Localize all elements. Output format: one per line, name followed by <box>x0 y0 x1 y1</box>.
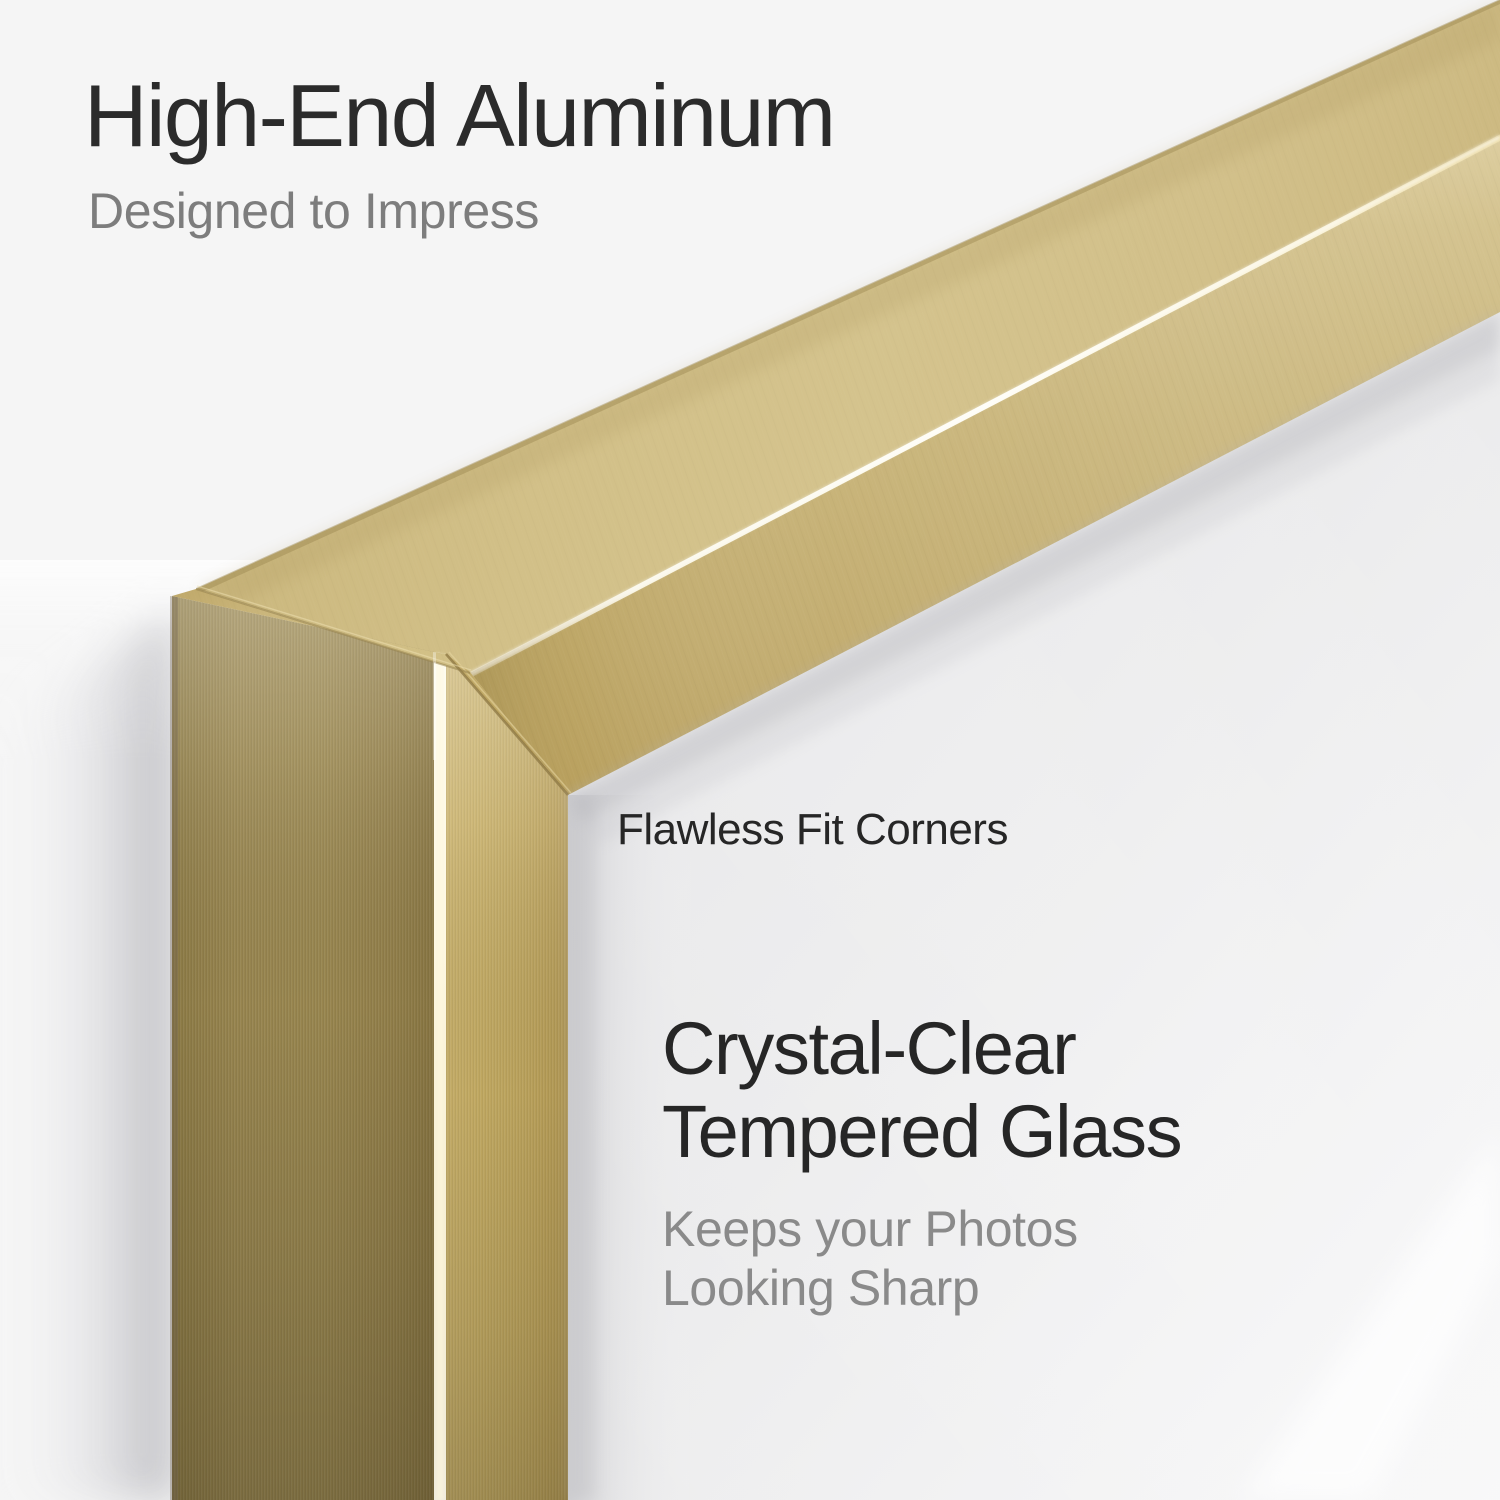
product-marketing-image: High-End Aluminum Designed to Impress Fl… <box>0 0 1500 1500</box>
glass-feature-title: Crystal-Clear Tempered Glass <box>662 1008 1462 1174</box>
glass-title-line-2: Tempered Glass <box>662 1091 1462 1174</box>
glass-feature-block: Crystal-Clear Tempered Glass Keeps your … <box>662 1008 1462 1318</box>
frame-left-stile-front-face <box>446 654 568 1500</box>
glass-sub-line-2: Looking Sharp <box>662 1259 1462 1318</box>
stile-specular-highlight <box>434 652 446 1500</box>
glass-feature-subtitle: Keeps your Photos Looking Sharp <box>662 1200 1462 1318</box>
stile-contact-shadow <box>568 795 596 1500</box>
glass-sub-line-1: Keeps your Photos <box>662 1200 1462 1259</box>
glass-title-line-1: Crystal-Clear <box>662 1008 1462 1091</box>
callout-flawless-fit-corners: Flawless Fit Corners <box>617 806 1008 854</box>
frame-left-stile-side-face <box>172 596 434 1500</box>
page-title: High-End Aluminum <box>84 70 1184 162</box>
headline-block: High-End Aluminum Designed to Impress <box>84 70 1184 239</box>
stile-outer-edge <box>170 596 178 1500</box>
page-subtitle: Designed to Impress <box>88 184 1184 239</box>
